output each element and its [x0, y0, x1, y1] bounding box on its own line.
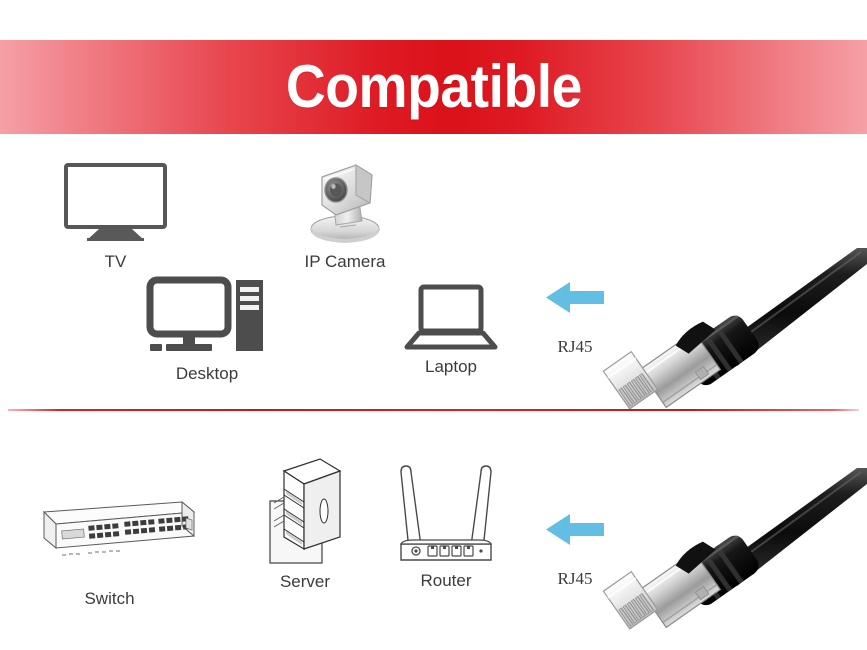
tv-icon: [58, 163, 173, 245]
server-rack-icon: [262, 453, 348, 563]
device-ip-camera: IP Camera: [300, 155, 390, 270]
connector-label-top: RJ45: [538, 338, 612, 355]
device-tv: TV: [58, 163, 173, 270]
ip-camera-icon: [300, 155, 390, 247]
device-label-laptop: Laptop: [405, 358, 497, 375]
device-switch: Switch: [22, 490, 197, 607]
device-label-switch: Switch: [22, 590, 197, 607]
device-label-tv: TV: [58, 253, 173, 270]
page-title: Compatible: [286, 57, 582, 117]
arrow-left-icon-top: [545, 281, 605, 314]
rj45-label-bottom: RJ45: [538, 570, 612, 587]
wifi-router-icon: [391, 458, 501, 568]
device-desktop: Desktop: [148, 278, 266, 382]
device-label-ip-camera: IP Camera: [300, 253, 390, 270]
device-router: Router: [391, 458, 501, 589]
network-switch-icon: [22, 490, 197, 568]
rj45-cable-image-bottom: [625, 468, 867, 608]
rj45-label-top: RJ45: [538, 338, 612, 355]
header-banner: Compatible: [0, 40, 867, 134]
desktop-computer-icon: [148, 278, 266, 356]
device-label-server: Server: [262, 573, 348, 590]
section-divider: [8, 409, 859, 411]
connector-label-bottom: RJ45: [538, 570, 612, 587]
device-laptop: Laptop: [405, 285, 497, 375]
device-label-desktop: Desktop: [148, 365, 266, 382]
device-server: Server: [262, 453, 348, 590]
compatibility-diagram: Compatible TV: [0, 0, 867, 650]
rj45-cable-image-top: [625, 248, 867, 388]
arrow-left-icon-bottom: [545, 513, 605, 546]
device-label-router: Router: [391, 572, 501, 589]
laptop-icon: [405, 285, 497, 351]
